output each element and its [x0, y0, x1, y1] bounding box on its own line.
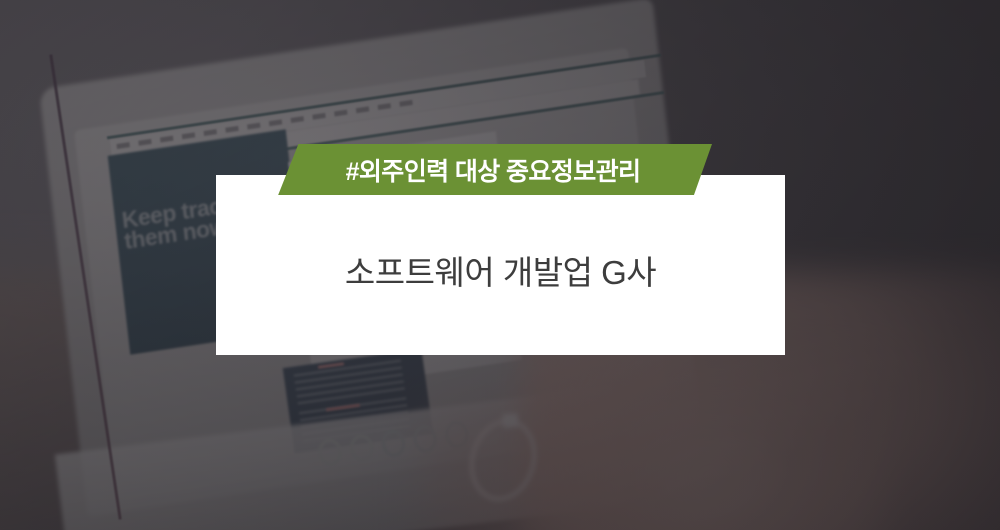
category-ribbon-label: #외주인력 대상 중요정보관리 [344, 151, 641, 188]
page-title: 소프트웨어 개발업 G사 [345, 236, 656, 295]
content-card: 소프트웨어 개발업 G사 [216, 175, 785, 355]
slide-canvas: Keep track them now 소프트웨어 개발업 G사 #외주인력 대… [0, 0, 1000, 530]
category-ribbon: #외주인력 대상 중요정보관리 [272, 144, 712, 195]
